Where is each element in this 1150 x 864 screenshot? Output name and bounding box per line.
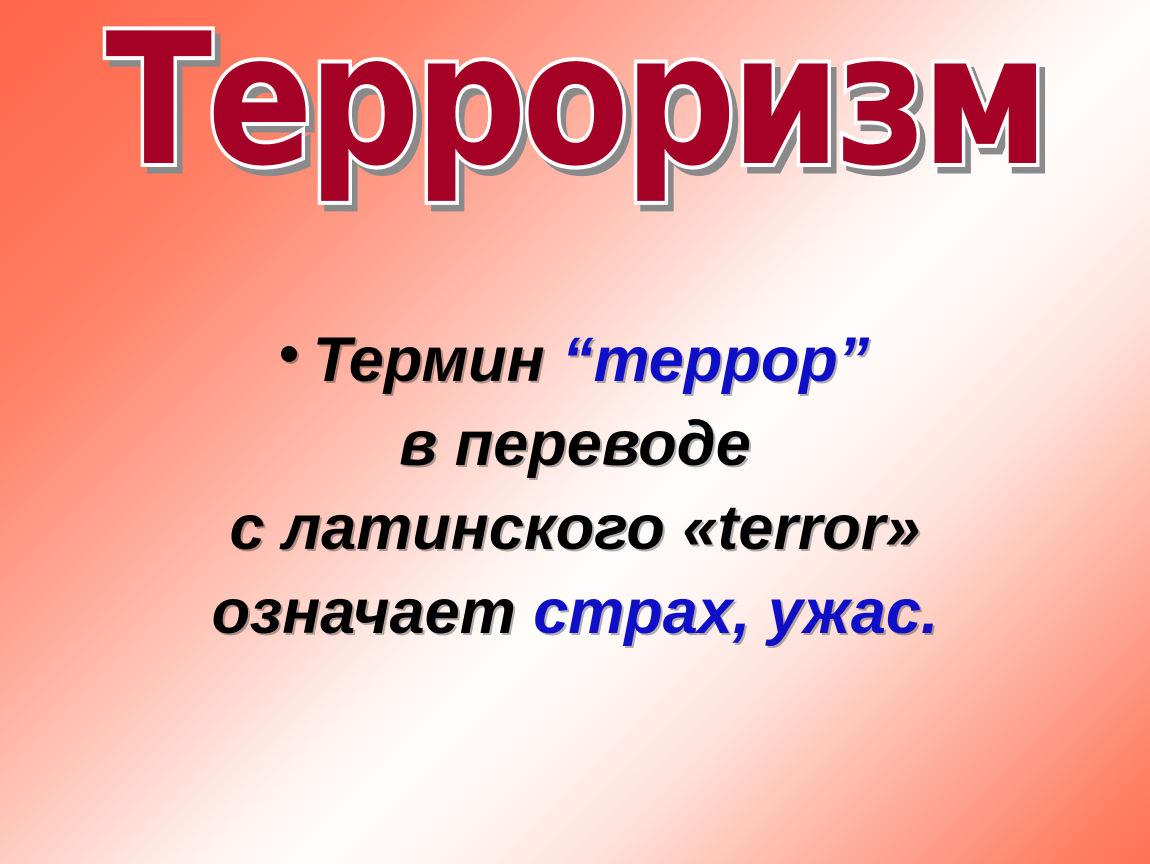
body-line-2-black-text: в переводе: [399, 409, 751, 479]
body-line-4-blue-text: страх, ужас.: [533, 577, 938, 647]
body-line-1-black-text: Термин: [313, 325, 562, 395]
body-line-2: в переводе: [0, 402, 1150, 486]
wordart-title-outline: Терроризм: [106, 8, 1045, 194]
wordart-title-face: Терроризм: [106, 0, 1045, 206]
slide-title: Терроризм Терроризм Терроризм: [0, 8, 1150, 194]
body-line-1-blue-text: “террор”: [562, 325, 869, 395]
body-line-4-black-text: означает: [212, 577, 534, 647]
body-line-4: означает страх, ужас.: [0, 570, 1150, 654]
body-line-3: с латинского «terror»: [0, 486, 1150, 570]
slide-body: Термин “террор” в переводе с латинского …: [0, 318, 1150, 654]
slide-canvas: Терроризм Терроризм Терроризм Термин “те…: [0, 0, 1150, 864]
body-line-1: Термин “террор”: [0, 318, 1150, 402]
wordart-title-shadow: Терроризм: [112, 15, 1051, 201]
bullet-icon: [281, 346, 297, 362]
wordart-title: Терроризм Терроризм Терроризм: [106, 8, 1045, 194]
body-line-3-black-text: с латинского «terror»: [230, 493, 921, 563]
